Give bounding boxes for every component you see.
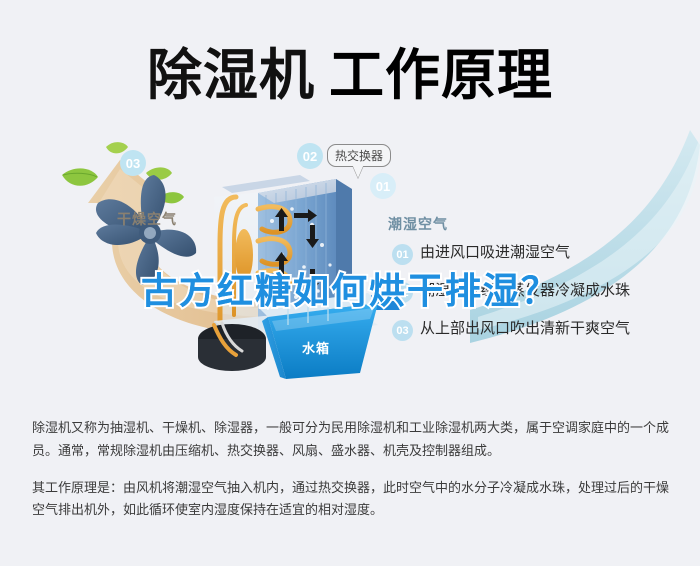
infographic-page: 除湿机工作原理 xyxy=(0,0,700,566)
page-title: 除湿机工作原理 xyxy=(0,30,700,110)
label-humid-air: 潮湿空气 xyxy=(388,214,448,234)
leaf-icon-1 xyxy=(62,168,98,185)
paragraph-2: 其工作原理是：由风机将潮湿空气抽入机内，通过热交换器，此时空气中的水分子冷凝成水… xyxy=(32,478,672,524)
step-text: 从上部出风口吹出清新干爽空气 xyxy=(420,319,630,337)
compressor-unit xyxy=(198,323,266,371)
label-water-tank: 水箱 xyxy=(302,338,330,357)
callout-tail xyxy=(352,164,364,178)
body-copy: 除湿机又称为抽湿机、干燥机、除湿器，一般可分为民用除湿机和工业除湿机两大类，属于… xyxy=(32,418,672,537)
title-part-2: 工作原理 xyxy=(329,43,553,107)
badge-02-heat-exchanger: 02 xyxy=(297,143,323,169)
step-number: 03 xyxy=(392,320,413,341)
title-part-1: 除湿机 xyxy=(147,43,315,107)
list-item: 03 从上部出风口吹出清新干爽空气 xyxy=(392,319,692,341)
label-dry-air: 干燥空气 xyxy=(117,209,177,229)
badge-03-dry-air: 03 xyxy=(120,150,146,176)
overlay-headline: 古方红糖如何烘干排湿？ xyxy=(0,262,700,314)
step-text: 由进风口吸进潮湿空气 xyxy=(420,243,570,261)
paragraph-1: 除湿机又称为抽湿机、干燥机、除湿器，一般可分为民用除湿机和工业除湿机两大类，属于… xyxy=(32,418,672,464)
badge-01-humid-air: 01 xyxy=(370,173,396,199)
